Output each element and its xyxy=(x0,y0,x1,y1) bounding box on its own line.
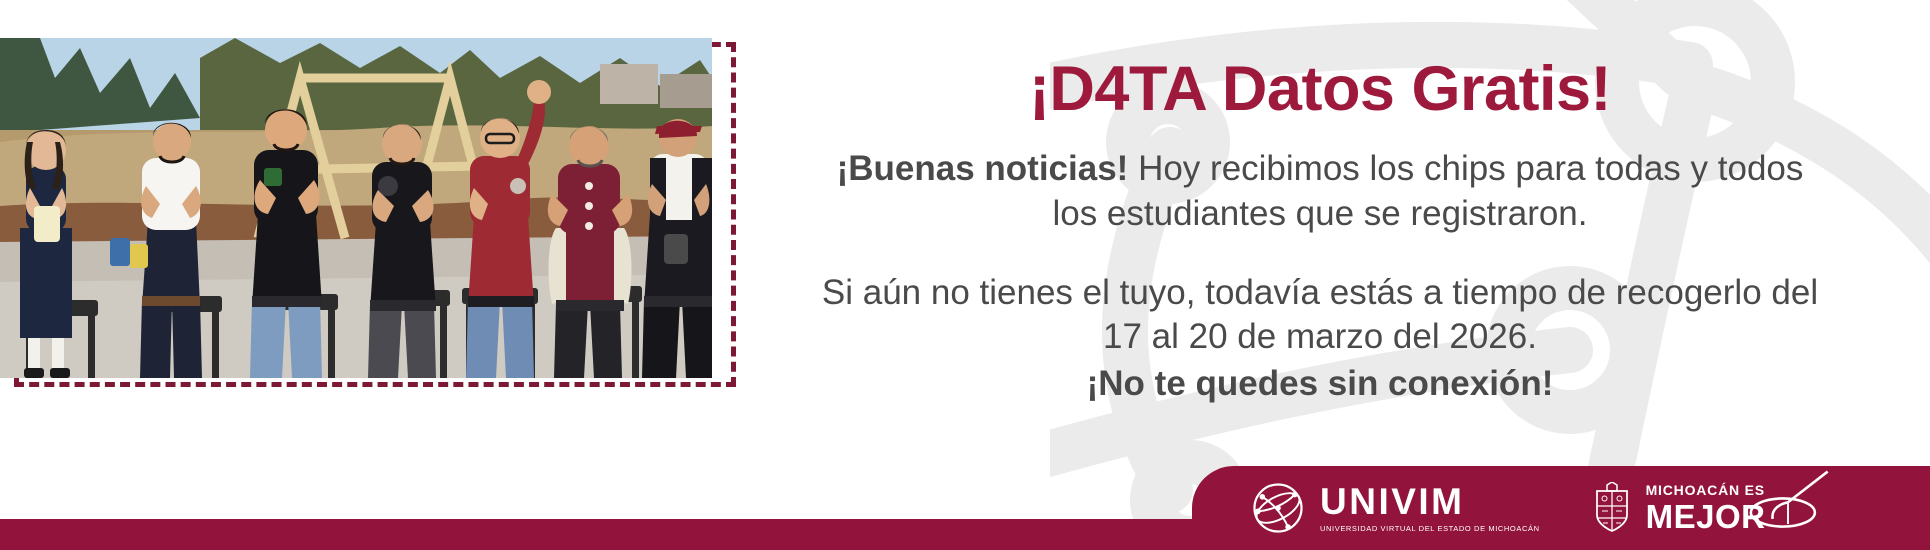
paragraph-good-news: ¡Buenas noticias! Hoy recibimos los chip… xyxy=(815,147,1825,237)
michoacan-logo: MICHOACÁN ES MEJOR xyxy=(1592,482,1766,534)
butterfly-net-icon xyxy=(1742,469,1834,533)
univim-wordmark: UNIVIM xyxy=(1320,483,1540,520)
closing-call-to-action: ¡No te quedes sin conexión! xyxy=(1087,362,1554,407)
paragraph-pickup-dates: Si aún no tienes el tuyo, todavía estás … xyxy=(815,271,1825,361)
good-news-lead: ¡Buenas noticias! xyxy=(837,149,1129,188)
univim-logo: UNIVIM UNIVERSIDAD VIRTUAL DEL ESTADO DE… xyxy=(1250,480,1540,536)
globe-network-icon xyxy=(1250,480,1306,536)
promo-banner: ¡D4TA Datos Gratis! ¡Buenas noticias! Ho… xyxy=(0,0,1930,550)
good-news-rest: Hoy recibimos los chips para todas y tod… xyxy=(1052,149,1803,233)
footer-logo-panel: UNIVIM UNIVERSIDAD VIRTUAL DEL ESTADO DE… xyxy=(1192,466,1930,550)
coat-of-arms-shield-icon xyxy=(1592,482,1632,534)
univim-subtitle: UNIVERSIDAD VIRTUAL DEL ESTADO DE MICHOA… xyxy=(1320,525,1540,533)
event-photo xyxy=(0,38,712,378)
page-title: ¡D4TA Datos Gratis! xyxy=(1029,58,1611,121)
promo-text-block: ¡D4TA Datos Gratis! ¡Buenas noticias! Ho… xyxy=(790,0,1850,440)
